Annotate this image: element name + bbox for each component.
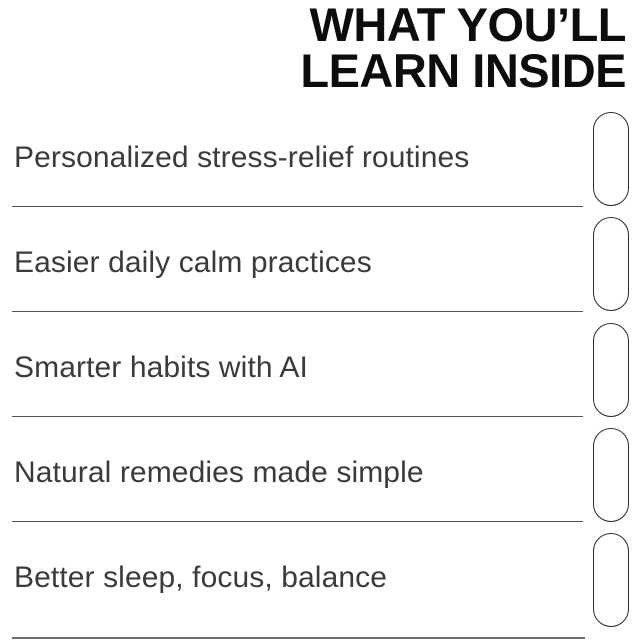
- list-item-divider: [12, 416, 583, 417]
- list-item-label: Natural remedies made simple: [14, 456, 424, 490]
- capsule-icon: [593, 323, 629, 417]
- list-item: Smarter habits with AI: [0, 322, 640, 427]
- list-item-label: Smarter habits with AI: [14, 351, 308, 385]
- capsule-icon: [593, 112, 629, 206]
- list-item: Natural remedies made simple: [0, 427, 640, 532]
- list-item-label: Easier daily calm practices: [14, 246, 372, 280]
- list-item-divider: [12, 311, 583, 312]
- list-item-label: Better sleep, focus, balance: [14, 561, 387, 595]
- list-item-divider: [12, 206, 583, 207]
- capsule-icon: [593, 428, 629, 522]
- page-title-line-2: LEARN INSIDE: [120, 48, 626, 94]
- list-item-divider: [12, 521, 583, 522]
- capsule-icon: [593, 533, 629, 627]
- capsule-icon: [593, 217, 629, 311]
- page-title: WHAT YOU’LL LEARN INSIDE: [120, 2, 626, 94]
- list-item: Easier daily calm practices: [0, 217, 640, 322]
- list-item-label: Personalized stress-relief routines: [14, 141, 469, 175]
- list-item: Personalized stress-relief routines: [0, 112, 640, 217]
- list-item-divider: [12, 637, 585, 639]
- list-item: Better sleep, focus, balance: [0, 532, 640, 637]
- learn-inside-poster: WHAT YOU’LL LEARN INSIDE Personalized st…: [0, 0, 640, 640]
- page-title-line-1: WHAT YOU’LL: [120, 2, 626, 48]
- benefits-list: Personalized stress-relief routines Easi…: [0, 112, 640, 637]
- capsule-rail: [593, 112, 633, 640]
